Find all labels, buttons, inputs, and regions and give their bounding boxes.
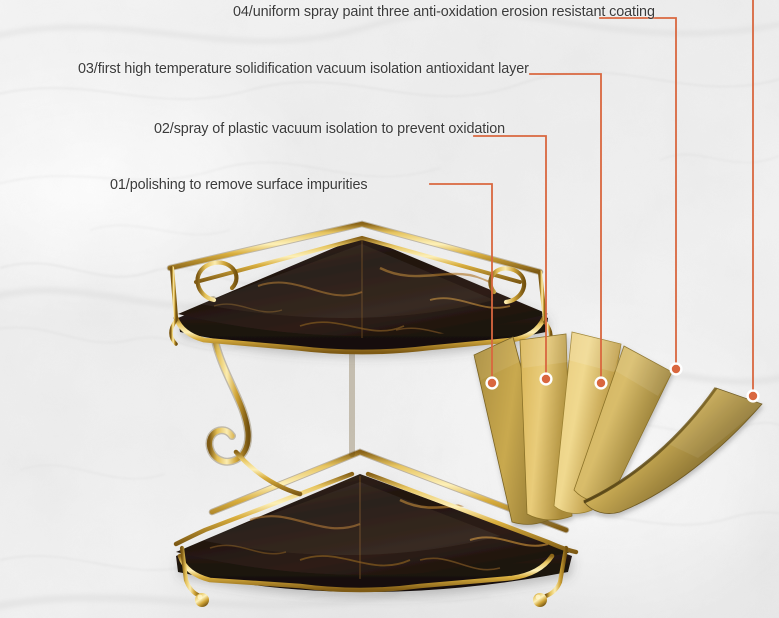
product-illustration	[0, 0, 779, 618]
ball-feet	[195, 593, 547, 607]
upper-shelf	[170, 224, 551, 352]
annotation-02-label: 02/spray of plastic vacuum isolation to …	[154, 120, 604, 139]
coating-layer-fan	[474, 332, 762, 524]
infographic-canvas: 04/uniform spray paint three anti-oxidat…	[0, 0, 779, 618]
annotation-04-label: 04/uniform spray paint three anti-oxidat…	[233, 3, 703, 22]
annotation-01-label: 01/polishing to remove surface impuritie…	[110, 176, 450, 195]
annotation-03-label: 03/first high temperature solidification…	[78, 60, 618, 79]
